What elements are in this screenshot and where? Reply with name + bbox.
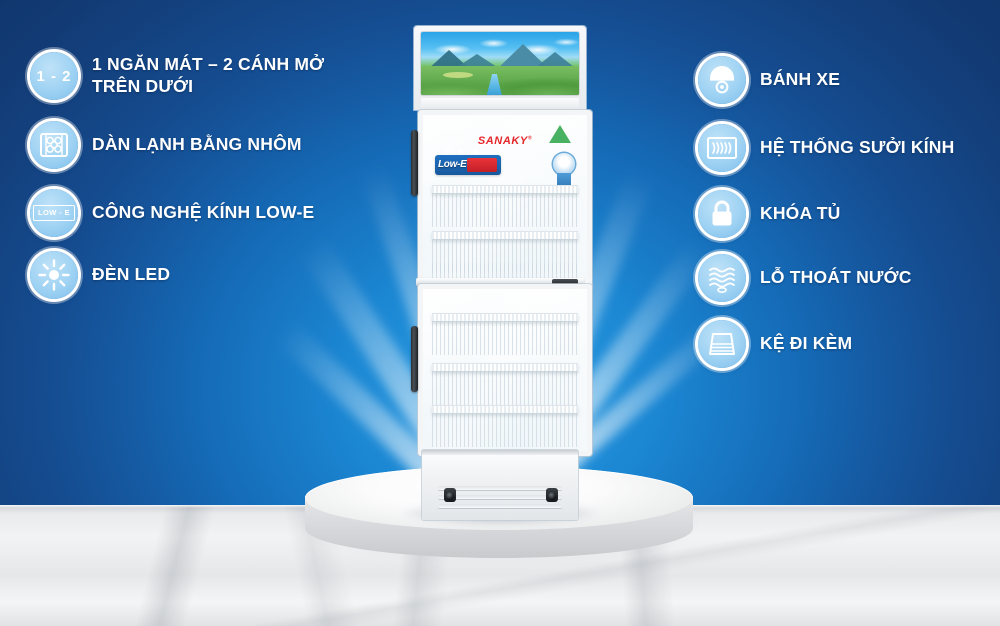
sticker-dots <box>441 148 487 157</box>
feature-label: ĐÈN LED <box>92 264 170 286</box>
shelf <box>432 231 578 240</box>
shelf <box>432 405 578 414</box>
shelf <box>432 185 578 194</box>
upper-glass-door[interactable]: SANAKY® Low-E <box>418 110 592 290</box>
feature-label: HỆ THỐNG SƯỞI KÍNH <box>760 137 954 159</box>
feature-label: CÔNG NGHỆ KÍNH LOW-E <box>92 202 314 224</box>
glass-heater-icon <box>698 124 746 172</box>
brand-logo-mark: ® <box>528 135 532 141</box>
top-display-panel <box>414 26 586 110</box>
lower-glass-door[interactable] <box>418 284 592 456</box>
caster-wheel-right <box>546 488 558 502</box>
low-e-glass-icon: LOW - E <box>30 189 78 237</box>
round-certification-badge <box>553 153 575 175</box>
shelf <box>432 313 578 322</box>
caster-wheel-icon <box>698 56 746 104</box>
feature-item-compartments[interactable]: 1 - 2 1 NGĂN MÁT – 2 CÁNH MỞ TRÊN DƯỚI <box>30 52 324 100</box>
caster-wheel-left <box>444 488 456 502</box>
upper-door-handle[interactable] <box>411 130 418 196</box>
infographic-canvas: SANAKY® Low-E <box>0 0 1000 626</box>
feature-item-glass-heater[interactable]: HỆ THỐNG SƯỞI KÍNH <box>698 124 954 172</box>
panel-trim <box>421 98 579 108</box>
low-e-sticker-text: Low-E <box>438 159 467 170</box>
feature-item-shelves-included[interactable]: KỆ ĐI KÈM <box>698 320 852 368</box>
aluminium-coil-icon <box>30 121 78 169</box>
low-e-sticker: Low-E <box>435 155 501 175</box>
scenery-artwork <box>421 32 579 95</box>
feature-label: 1 NGĂN MÁT – 2 CÁNH MỞ TRÊN DƯỚI <box>92 54 324 97</box>
product-refrigerator: SANAKY® Low-E <box>414 26 586 518</box>
feature-item-water-drain[interactable]: LỖ THOÁT NƯỚC <box>698 254 912 302</box>
one-two-badge-text: 1 - 2 <box>36 68 71 85</box>
vent-slat <box>438 504 562 508</box>
brand-logo-text: SANAKY <box>478 135 528 147</box>
padlock-icon <box>698 190 746 238</box>
feature-item-cabinet-lock[interactable]: KHÓA TỦ <box>698 190 840 238</box>
feature-label: KỆ ĐI KÈM <box>760 333 852 355</box>
vent-slat <box>438 495 562 499</box>
sticker-red-panel <box>467 158 497 172</box>
low-e-icon-text: LOW - E <box>33 205 75 221</box>
lower-door-handle[interactable] <box>411 326 418 392</box>
feature-item-low-e-glass[interactable]: LOW - E CÔNG NGHỆ KÍNH LOW-E <box>30 189 314 237</box>
base-lip <box>422 450 578 455</box>
feature-item-led-light[interactable]: ĐÈN LED <box>30 251 170 299</box>
one-two-badge-icon: 1 - 2 <box>30 52 78 100</box>
water-drain-icon <box>698 254 746 302</box>
field-patch <box>443 72 473 78</box>
compressor-base <box>422 450 578 520</box>
shelf-icon <box>698 320 746 368</box>
green-certification-badge <box>549 125 571 143</box>
feature-label: DÀN LẠNH BẰNG NHÔM <box>92 134 302 156</box>
feature-label: BÁNH XE <box>760 69 840 91</box>
feature-item-aluminium-coil[interactable]: DÀN LẠNH BẰNG NHÔM <box>30 121 302 169</box>
led-light-icon <box>30 251 78 299</box>
feature-label: KHÓA TỦ <box>760 203 840 225</box>
feature-label: LỖ THOÁT NƯỚC <box>760 267 912 289</box>
feature-item-caster-wheel[interactable]: BÁNH XE <box>698 56 840 104</box>
shelf <box>432 363 578 372</box>
vent-slat <box>438 486 562 490</box>
